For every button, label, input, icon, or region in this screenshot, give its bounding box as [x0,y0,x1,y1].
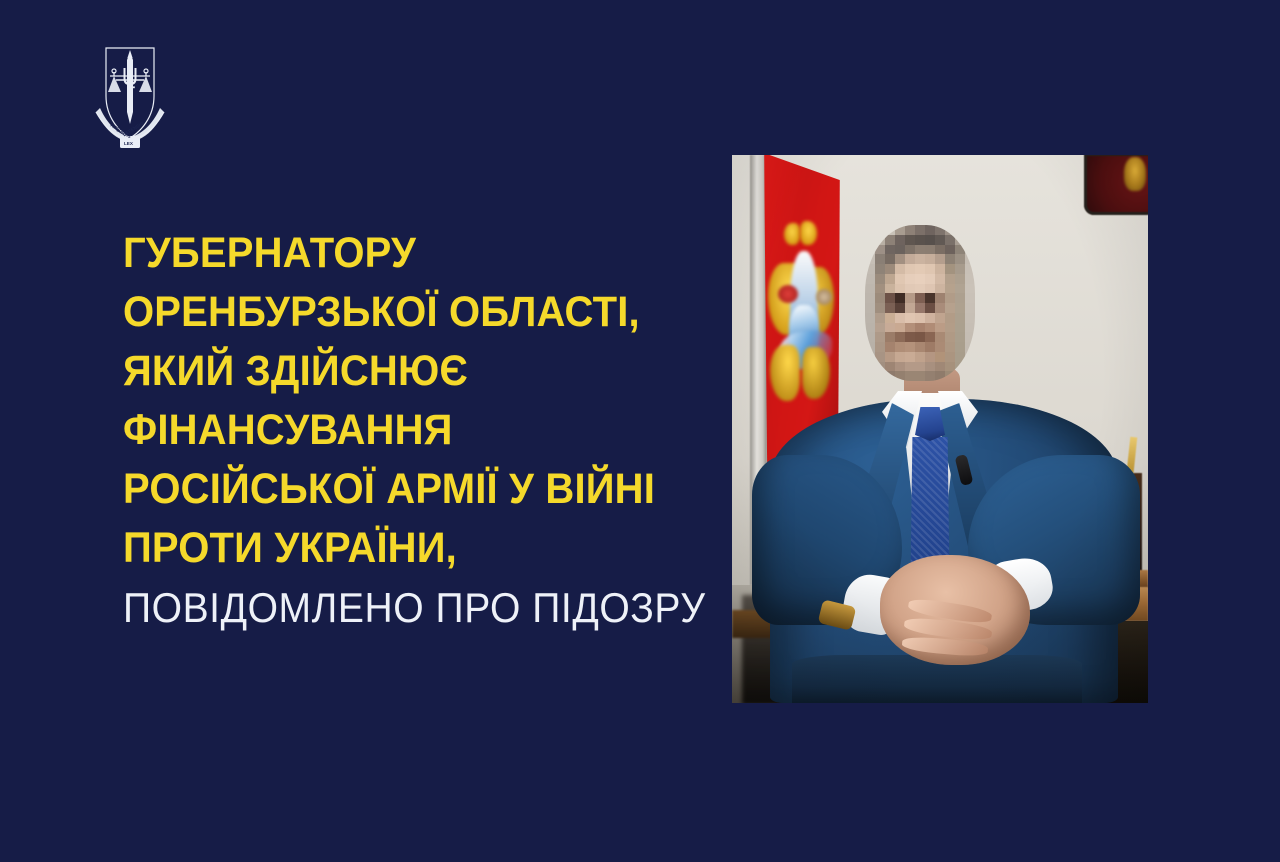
face-mosaic-cell [925,352,935,362]
face-mosaic-cell [965,303,975,313]
face-mosaic-cell [935,313,945,323]
face-mosaic-cell [885,323,895,333]
face-mosaic-cell [875,254,885,264]
face-mosaic-cell [965,313,975,323]
face-mosaic-cell [945,352,955,362]
face-mosaic-cell [915,254,925,264]
face-mosaic-cell [915,293,925,303]
face-mosaic-cell [935,352,945,362]
face-mosaic-cell [885,245,895,255]
face-mosaic-cell [895,254,905,264]
face-mosaic-cell [905,254,915,264]
face-mosaic-cell [875,313,885,323]
news-card: AEQUITAS LEX DEFENSIO ГУБЕРНАТОРУ ОРЕНБУ… [0,0,1280,862]
face-mosaic-cell [915,303,925,313]
face-mosaic-cell [895,284,905,294]
face-mosaic-cell [895,274,905,284]
face-mosaic-cell [935,342,945,352]
face-mosaic-cell [935,362,945,372]
face-mosaic-cell [905,293,915,303]
face-mosaic-cell [945,303,955,313]
face-mosaic-cell [925,225,935,235]
face-mosaic-cell [945,235,955,245]
face-mosaic-cell [865,293,875,303]
face-mosaic-cell [925,274,935,284]
face-mosaic-cell [875,274,885,284]
face-mosaic-cell [875,332,885,342]
headline-subline: ПОВІДОМЛЕНО ПРО ПІДОЗРУ [123,578,644,637]
face-mosaic-cell [945,254,955,264]
face-mosaic-cell [925,371,935,381]
headline-block: ГУБЕРНАТОРУ ОРЕНБУРЗЬКОЇ ОБЛАСТІ, ЯКИЙ З… [123,224,683,637]
face-mosaic-cell [885,303,895,313]
headline-line-3: ЯКИЙ ЗДІЙСНЮЄ [123,342,644,401]
face-mosaic-cell [905,235,915,245]
face-mosaic-cell [955,284,965,294]
face-mosaic-cell [945,245,955,255]
face-mosaic-cell [885,264,895,274]
face-mosaic-cell [945,332,955,342]
face-mosaic-cell [905,342,915,352]
face-mosaic-cell [865,323,875,333]
face-mosaic-cell [935,264,945,274]
face-mosaic-cell [945,342,955,352]
wall-plaque-gold-detail [1124,157,1146,191]
face-mosaic-cell [915,332,925,342]
face-mosaic-cell [925,303,935,313]
face-mosaic-cell [945,362,955,372]
face-mosaic-cell [945,264,955,274]
face-mosaic-cell [915,245,925,255]
face-mosaic-cell [945,323,955,333]
face-mosaic-cell [945,284,955,294]
face-mosaic-cell [905,323,915,333]
face-mosaic-grid [865,225,975,381]
face-mosaic-cell [935,303,945,313]
face-mosaic-cell [905,284,915,294]
face-mosaic-cell [905,371,915,381]
face-mosaic-cell [895,332,905,342]
face-mosaic-cell [875,303,885,313]
face-mosaic-cell [905,352,915,362]
face-mosaic-cell [895,313,905,323]
face-mosaic-cell [885,313,895,323]
face-mosaic-cell [875,284,885,294]
face-mosaic-cell [955,313,965,323]
headline-line-6: ПРОТИ УКРАЇНИ, [123,519,644,578]
flag-eagle-head-left [784,223,800,245]
face-mosaic-cell [925,284,935,294]
face-mosaic-cell [955,264,965,274]
face-mosaic-cell [935,254,945,264]
face-mosaic-cell [915,284,925,294]
face-mosaic-cell [945,293,955,303]
face-mosaic-cell [885,332,895,342]
face-mosaic-cell [905,274,915,284]
face-mosaic-cell [955,274,965,284]
face-mosaic-cell [925,264,935,274]
face-mosaic-cell [885,235,895,245]
face-mosaic-cell [935,332,945,342]
face-mosaic-cell [895,293,905,303]
flag-eagle-head-right [800,221,817,245]
face-mosaic-cell [905,362,915,372]
face-mosaic-cell [925,362,935,372]
face-mosaic-cell [895,323,905,333]
face-mosaic-cell [935,284,945,294]
prosecutor-general-emblem-icon: AEQUITAS LEX DEFENSIO [84,38,176,150]
face-mosaic-cell [885,284,895,294]
subject-necktie-knot [915,407,945,441]
face-mosaic-cell [905,303,915,313]
flag-eagle-accent-gold [816,289,832,305]
emblem-motto-center: LEX [124,141,134,146]
face-mosaic-cell [905,225,915,235]
face-mosaic-cell [895,362,905,372]
face-mosaic-cell [915,274,925,284]
suspect-photo [732,155,1148,703]
face-mosaic-cell [885,342,895,352]
face-mosaic-cell [925,313,935,323]
face-mosaic-cell [915,371,925,381]
face-mosaic-cell [875,323,885,333]
face-mosaic-cell [955,332,965,342]
face-mosaic-cell [925,342,935,352]
face-mosaic-cell [895,235,905,245]
face-mosaic-cell [895,352,905,362]
face-mosaic-cell [865,303,875,313]
face-mosaic-cell [915,352,925,362]
face-mosaic-cell [935,274,945,284]
headline-line-4: ФІНАНСУВАННЯ [123,401,644,460]
face-mosaic-cell [955,254,965,264]
face-mosaic-cell [885,352,895,362]
face-mosaic-cell [875,352,885,362]
face-mosaic-cell [865,284,875,294]
face-mosaic-cell [915,323,925,333]
flag-eagle-accent-red [778,285,798,303]
face-mosaic-cell [955,342,965,352]
face-mosaic-cell [905,245,915,255]
face-mosaic-cell [885,293,895,303]
face-mosaic-cell [955,323,965,333]
face-mosaic-cell [925,245,935,255]
headline-line-5: РОСІЙСЬКОЇ АРМІЇ У ВІЙНІ [123,460,644,519]
face-mosaic-cell [915,362,925,372]
subject-pixelated-face [865,225,975,381]
face-mosaic-cell [865,274,875,284]
face-mosaic-cell [935,235,945,245]
face-mosaic-cell [935,293,945,303]
face-mosaic-cell [905,332,915,342]
face-mosaic-cell [925,332,935,342]
face-mosaic-cell [905,313,915,323]
headline-line-1: ГУБЕРНАТОРУ [123,224,644,283]
headline-line-2: ОРЕНБУРЗЬКОЇ ОБЛАСТІ, [123,283,644,342]
face-mosaic-cell [875,264,885,274]
face-mosaic-cell [875,342,885,352]
face-mosaic-cell [965,284,975,294]
face-mosaic-cell [955,303,965,313]
face-mosaic-cell [885,362,895,372]
face-mosaic-cell [955,293,965,303]
face-mosaic-cell [965,323,975,333]
face-mosaic-cell [935,245,945,255]
face-mosaic-cell [915,342,925,352]
face-mosaic-cell [895,264,905,274]
face-mosaic-cell [915,264,925,274]
face-mosaic-cell [925,235,935,245]
face-mosaic-cell [965,293,975,303]
face-mosaic-cell [895,303,905,313]
face-mosaic-cell [925,293,935,303]
face-mosaic-cell [895,245,905,255]
face-mosaic-cell [865,313,875,323]
face-mosaic-cell [895,342,905,352]
face-mosaic-cell [935,323,945,333]
face-mosaic-cell [925,254,935,264]
face-mosaic-cell [915,313,925,323]
face-mosaic-cell [885,274,895,284]
face-mosaic-cell [925,323,935,333]
face-mosaic-cell [905,264,915,274]
flag-eagle-tail-left [770,345,800,401]
face-mosaic-cell [945,274,955,284]
face-mosaic-cell [885,254,895,264]
face-mosaic-cell [915,225,925,235]
face-mosaic-cell [875,293,885,303]
face-mosaic-cell [945,313,955,323]
face-mosaic-cell [915,235,925,245]
